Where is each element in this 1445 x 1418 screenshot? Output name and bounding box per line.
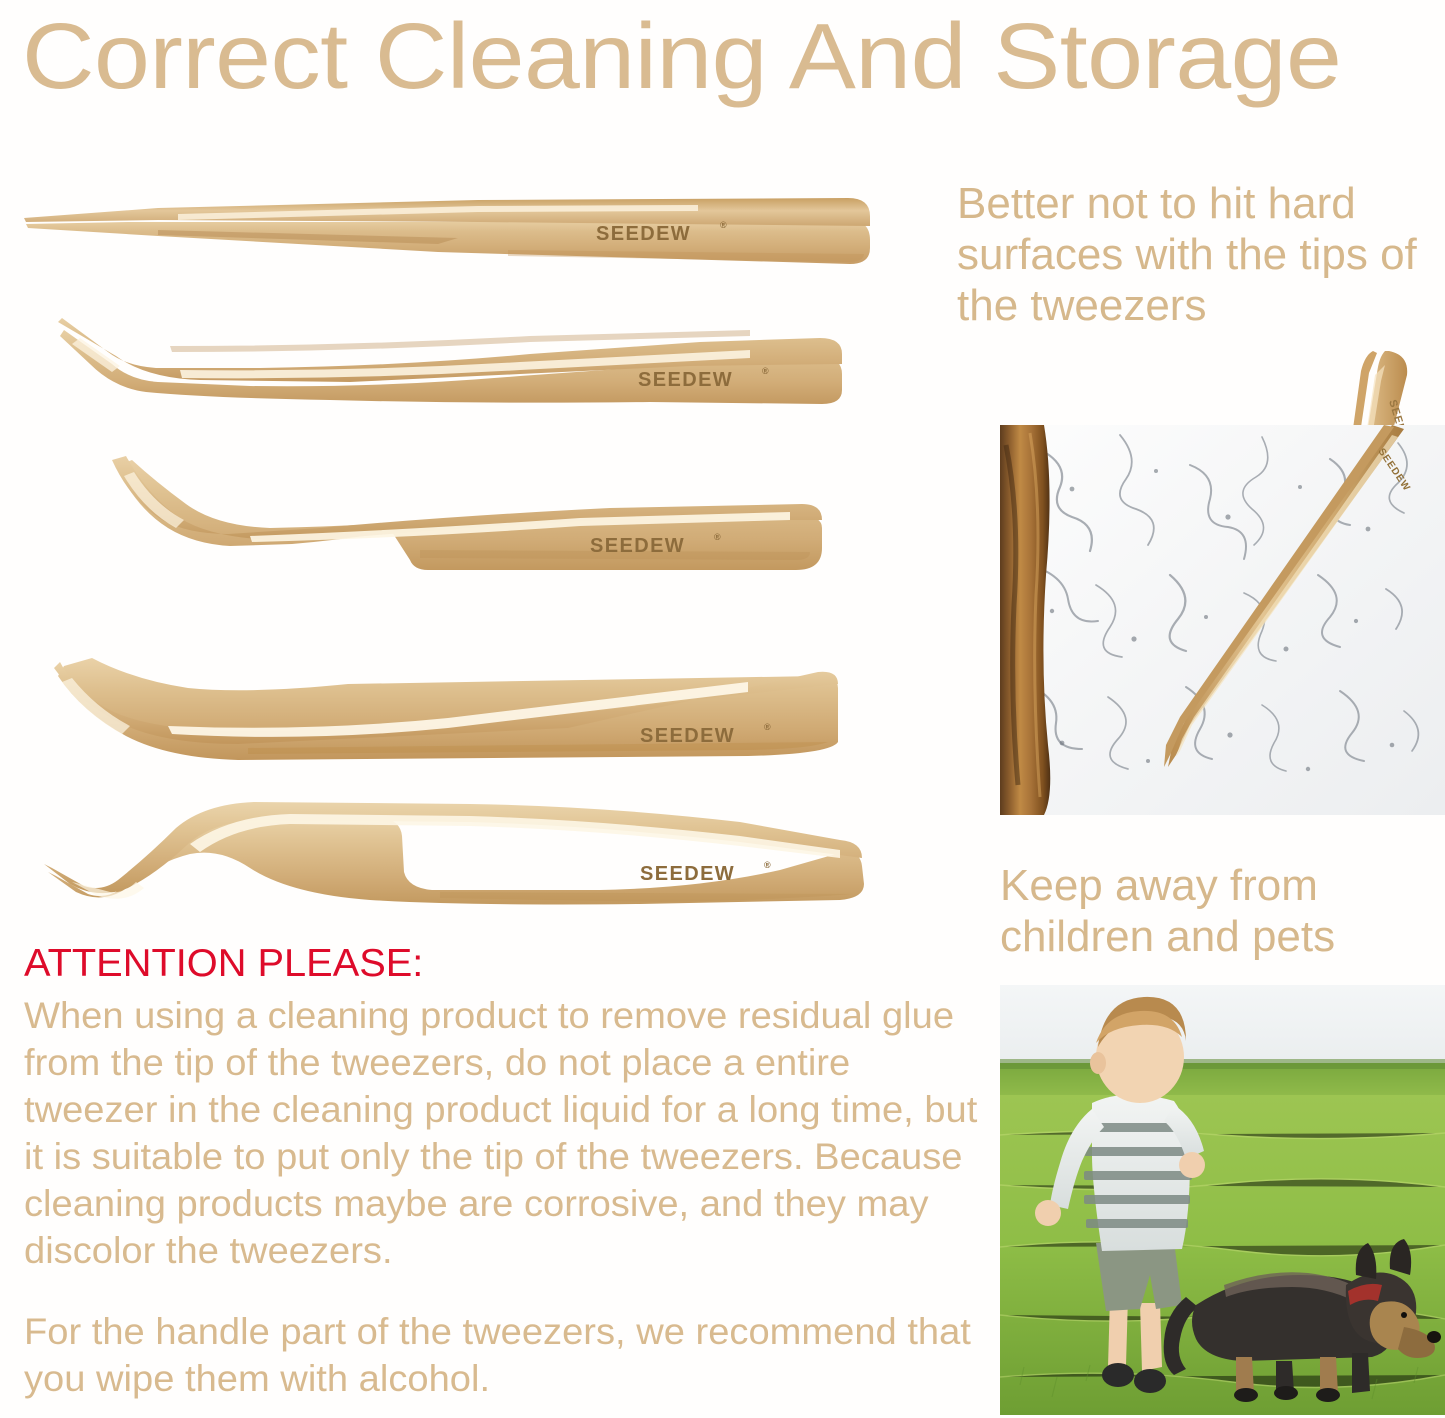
brand-trademark-icon: ® [720,220,727,230]
ear [1090,1052,1106,1074]
brand-trademark-icon: ® [764,722,771,732]
tweezer-on-marble-photo: SEEDEW [1000,425,1445,815]
brand-engraving: SEEDEW [590,535,685,557]
tweezer-curved-hook: SEEDEW ® [110,452,900,582]
infographic-page: Correct Cleaning And Storage [0,0,1445,1418]
tweezer-angled-45: SEEDEW ® [50,308,890,418]
attention-paragraph-1: When using a cleaning product to remove … [24,992,982,1274]
tweezer-s-curve: SEEDEW ® [40,788,895,908]
grass [1000,1095,1445,1415]
child-and-dog-photo [1000,985,1445,1415]
left-hand [1035,1200,1061,1226]
attention-heading: ATTENTION PLEASE: [24,942,423,986]
wooden-board [1000,425,1050,815]
page-title: Correct Cleaning And Storage [22,4,1445,108]
brand-engraving: SEEDEW [596,223,691,245]
attention-paragraph-2: For the handle part of the tweezers, we … [24,1308,982,1402]
brand-trademark-icon: ® [764,860,771,870]
tweezer-boot: SEEDEW ® [48,650,893,770]
brand-trademark-icon: ® [714,532,721,542]
tweezer-lineup: SEEDEW ® [0,160,940,900]
brand-engraving: SEEDEW [640,863,735,885]
brand-engraving: SEEDEW [638,369,733,391]
shorts [1096,1241,1182,1311]
dog-nose [1427,1331,1441,1343]
marble-surface [1000,425,1445,815]
tweezer-straight-point: SEEDEW ® [8,178,888,278]
brand-engraving: SEEDEW [640,725,735,747]
note-children-pets: Keep away from children and pets [1000,860,1445,962]
brand-trademark-icon: ® [762,366,769,376]
right-hand [1179,1152,1205,1178]
note-hard-surfaces: Better not to hit hard surfaces with the… [957,178,1445,331]
